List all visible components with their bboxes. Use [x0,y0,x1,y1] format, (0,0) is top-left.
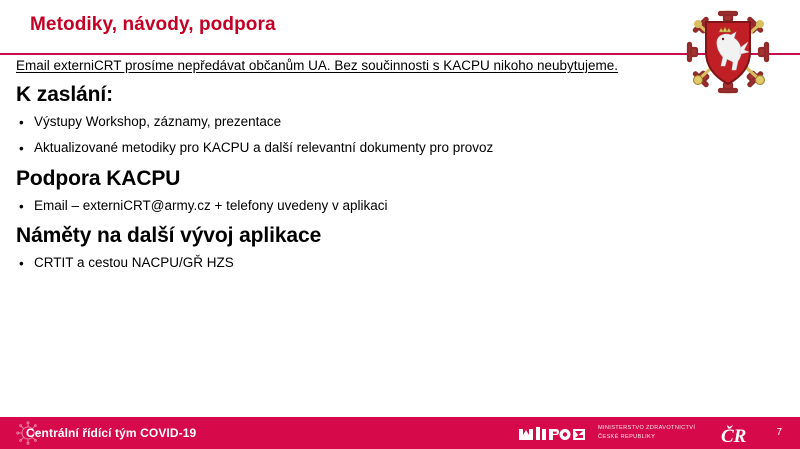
section-heading-k-zaslani: K zaslání: [16,83,786,107]
section-heading-namety: Náměty na další vývoj aplikace [16,224,786,248]
bullet-list-podpora-kacpu: • Email – externiCRT@army.cz + telefony … [16,197,786,214]
bullet-dot-icon: • [19,198,24,215]
list-item: • Email – externiCRT@army.cz + telefony … [16,197,786,214]
list-item-label: Aktualizované metodiky pro KACPU a další… [34,140,493,155]
bullet-dot-icon: • [19,255,24,272]
ministry-wordmark-line1: MINISTERSTVO ZDRAVOTNICTVÍ [598,424,695,433]
svg-text:ČR: ČR [721,425,746,446]
cr-logo-icon: ČR [720,424,764,446]
slide-body: Email externiCRT prosíme nepředávat obča… [16,58,786,280]
ministry-wordmark: MINISTERSTVO ZDRAVOTNICTVÍ ČESKÉ REPUBLI… [598,424,695,441]
bullet-list-k-zaslani: • Výstupy Workshop, záznamy, prezentace … [16,113,786,157]
slide-title: Metodiky, návody, podpora [30,14,276,36]
list-item: • Výstupy Workshop, záznamy, prezentace [16,113,786,130]
list-item: • CRTIT a cestou NACPU/GŘ HZS [16,254,786,271]
slide-root: Metodiky, návody, podpora [0,0,800,449]
czech-army-coat-of-arms-icon [676,4,780,96]
list-item-label: Výstupy Workshop, záznamy, prezentace [34,114,281,129]
bullet-dot-icon: • [19,140,24,157]
ministry-logo-icon [518,424,590,444]
bullet-dot-icon: • [19,114,24,131]
list-item-label: Email – externiCRT@army.cz + telefony uv… [34,198,387,213]
page-number: 7 [776,427,782,438]
footer-label: Centrální řídící tým COVID-19 [26,426,196,440]
ministry-wordmark-line2: ČESKÉ REPUBLIKY [598,433,695,442]
intro-note: Email externiCRT prosíme nepředávat obča… [16,58,786,75]
bullet-list-namety: • CRTIT a cestou NACPU/GŘ HZS [16,254,786,271]
list-item-label: CRTIT a cestou NACPU/GŘ HZS [34,255,234,270]
list-item: • Aktualizované metodiky pro KACPU a dal… [16,139,786,156]
section-heading-podpora-kacpu: Podpora KACPU [16,167,786,191]
